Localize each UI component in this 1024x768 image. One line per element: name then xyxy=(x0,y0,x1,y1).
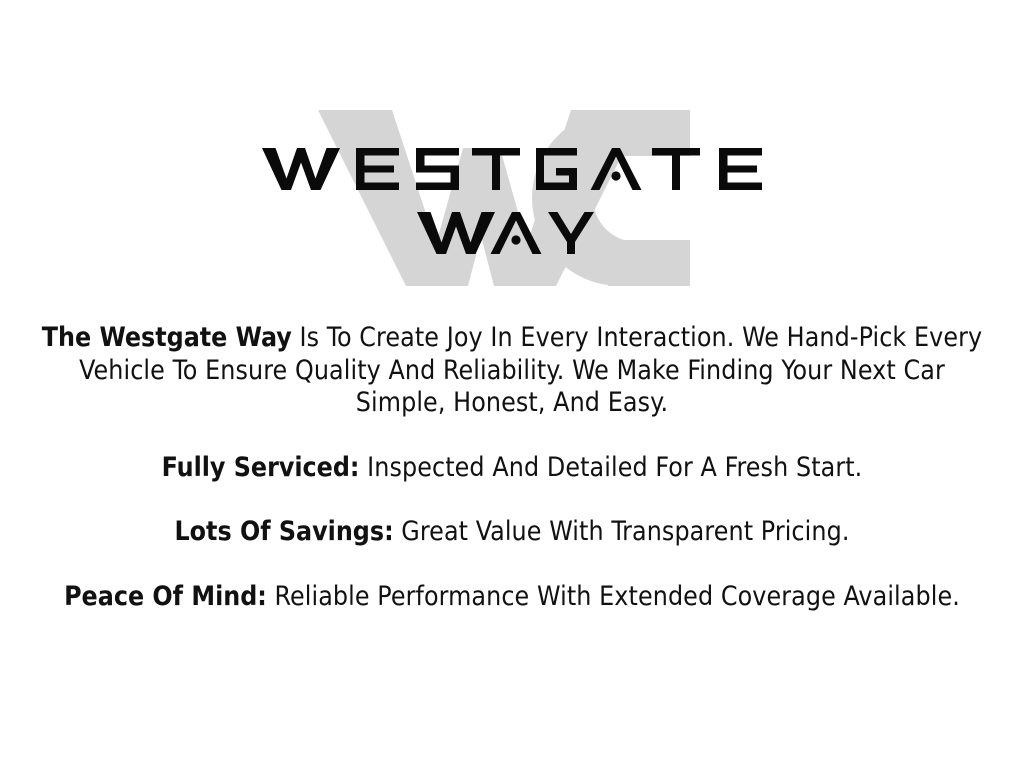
body-copy: The Westgate Way Is To Create Joy In Eve… xyxy=(0,322,1024,613)
copy-rest-serviced: Inspected And Detailed For A Fresh Start… xyxy=(359,452,862,483)
copy-lead-mind: Peace Of Mind: xyxy=(64,581,267,612)
letter-a-dot-glyph xyxy=(611,171,620,180)
copy-rest-mind: Reliable Performance With Extended Cover… xyxy=(267,581,960,612)
letter-a-dot-glyph xyxy=(511,235,520,244)
wordmark-line-way xyxy=(417,212,594,254)
copy-lead-serviced: Fully Serviced: xyxy=(162,452,360,483)
westgate-way-wordmark xyxy=(0,96,1024,296)
wordmark-line-westgate xyxy=(262,148,762,190)
copy-paragraph-serviced: Fully Serviced: Inspected And Detailed F… xyxy=(42,452,982,485)
copy-paragraph-mind: Peace Of Mind: Reliable Performance With… xyxy=(17,581,1007,614)
copy-lead-intro: The Westgate Way xyxy=(42,322,292,353)
logo-lockup xyxy=(0,96,1024,296)
copy-rest-savings: Great Value With Transparent Pricing. xyxy=(394,516,850,547)
copy-paragraph-savings: Lots Of Savings: Great Value With Transp… xyxy=(42,516,982,549)
copy-paragraph-intro: The Westgate Way Is To Create Joy In Eve… xyxy=(36,322,988,420)
copy-lead-savings: Lots Of Savings: xyxy=(174,516,393,547)
